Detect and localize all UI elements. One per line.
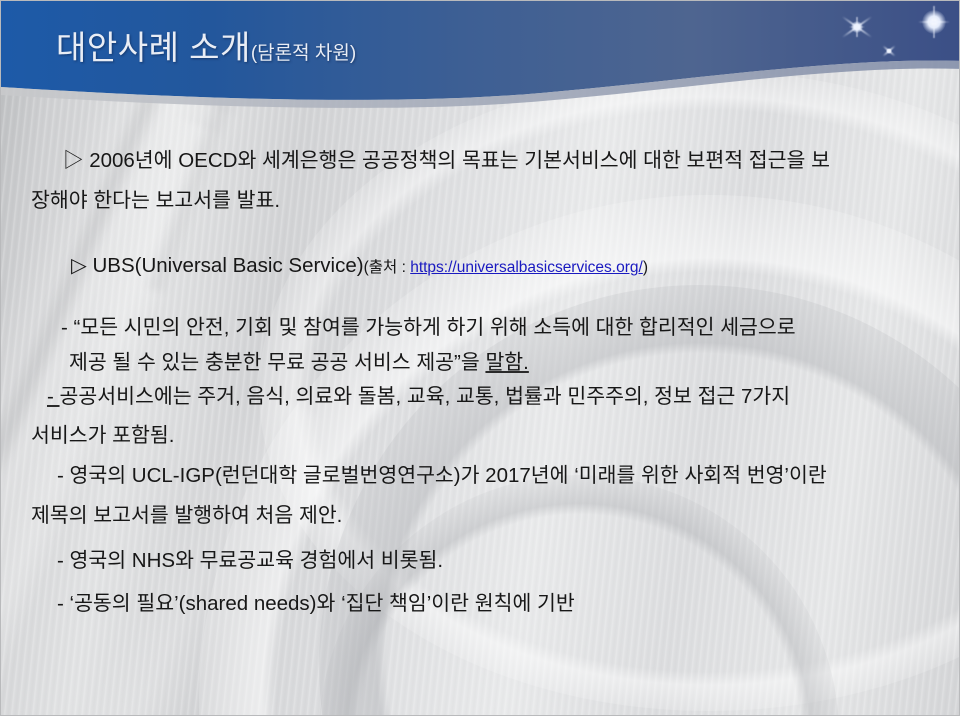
paragraph-nhs: - 영국의 NHS와 무료공교육 경험에서 비롯됨. — [57, 551, 443, 572]
paragraph-services-line2: 서비스가 포함됨. — [31, 426, 174, 447]
paragraph-ucligp-line2: 제목의 보고서를 발행하여 처음 제안. — [31, 506, 342, 527]
ubs-source-suffix: ) — [643, 259, 648, 276]
paragraph-services-line1-text: 공공서비스에는 주거, 음식, 의료와 돌봄, 교육, 교통, 법률과 민주주의… — [60, 385, 791, 408]
paragraph-quote-line2-text: 제공 될 수 있는 충분한 무료 공공 서비스 제공”을 — [69, 351, 485, 374]
paragraph-oecd-line1-text: ▷ 2006년에 OECD와 세계은행은 공공정책의 목표는 기본서비스에 대한… — [63, 149, 830, 172]
paragraph-oecd-line2-text: 장해야 한다는 보고서를 발표. — [31, 189, 280, 212]
paragraph-oecd-line1: ▷ 2006년에 OECD와 세계은행은 공공정책의 목표는 기본서비스에 대한… — [63, 151, 830, 172]
paragraph-services-line1: - 공공서비스에는 주거, 음식, 의료와 돌봄, 교육, 교통, 법률과 민주… — [47, 387, 790, 408]
ubs-source-link[interactable]: https://universalbasicservices.org/ — [410, 259, 643, 276]
paragraph-nhs-text: - 영국의 NHS와 무료공교육 경험에서 비롯됨. — [57, 549, 443, 572]
paragraph-quote-line1: - “모든 시민의 안전, 기회 및 참여를 가능하게 하기 위해 소득에 대한… — [61, 318, 796, 339]
paragraph-ucligp-line1: - 영국의 UCL-IGP(런던대학 글로벌번영연구소)가 2017년에 ‘미래… — [57, 466, 827, 487]
ubs-source-prefix: (출처 : — [364, 259, 411, 276]
slide-header: 대안사례 소개(담론적 차원) — [1, 1, 960, 121]
paragraph-ucligp-line1-text: - 영국의 UCL-IGP(런던대학 글로벌번영연구소)가 2017년에 ‘미래… — [57, 464, 827, 487]
paragraph-quote-line1-text: - “모든 시민의 안전, 기회 및 참여를 가능하게 하기 위해 소득에 대한… — [61, 316, 796, 339]
presentation-slide: 대안사례 소개(담론적 차원) ▷ 2006년에 OECD와 세계은행은 공공정… — [0, 0, 960, 716]
paragraph-services-line2-text: 서비스가 포함됨. — [31, 424, 174, 447]
slide-title-main: 대안사례 소개 — [56, 29, 251, 66]
slide-title-sub: (담론적 차원) — [251, 43, 356, 64]
paragraph-ucligp-line2-text: 제목의 보고서를 발행하여 처음 제안. — [31, 504, 342, 527]
paragraph-services-dash: - — [47, 385, 60, 408]
paragraph-shared-needs-text: - ‘공동의 필요’(shared needs)와 ‘집단 책임’이란 원칙에 … — [57, 592, 575, 615]
paragraph-quote-line2: 제공 될 수 있는 충분한 무료 공공 서비스 제공”을 말함. — [69, 353, 529, 374]
paragraph-ubs-heading: ▷ UBS(Universal Basic Service)(출처 : http… — [71, 256, 648, 277]
ubs-label: ▷ UBS(Universal Basic Service) — [71, 254, 364, 277]
paragraph-quote-line2-underlined: 말함. — [485, 351, 528, 374]
paragraph-shared-needs: - ‘공동의 필요’(shared needs)와 ‘집단 책임’이란 원칙에 … — [57, 594, 575, 615]
paragraph-oecd-line2: 장해야 한다는 보고서를 발표. — [31, 191, 280, 212]
slide-title: 대안사례 소개(담론적 차원) — [56, 21, 356, 69]
